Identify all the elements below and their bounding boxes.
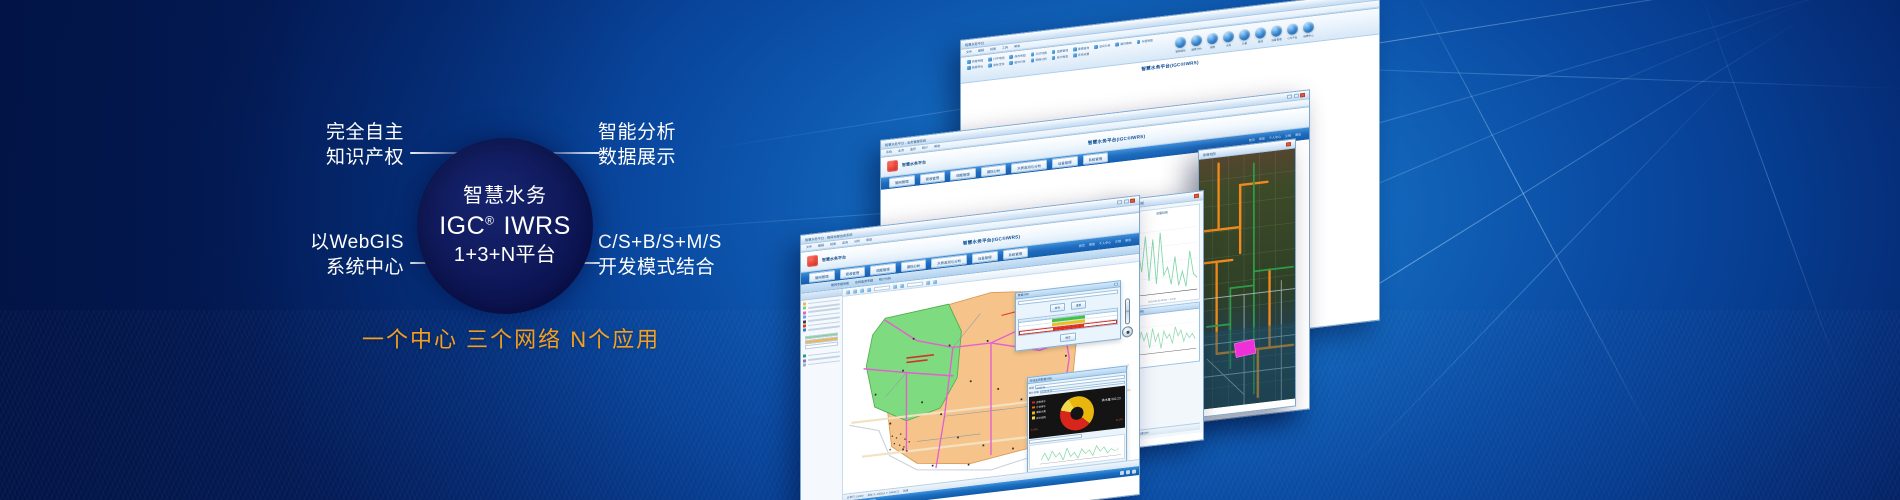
menu-item-help[interactable]: 帮助 [866, 237, 872, 242]
zoom-out-tool-icon[interactable] [860, 288, 864, 292]
layer-toc-panel[interactable] [801, 289, 843, 500]
map-canvas[interactable]: 爆管分析 查询 重置 [843, 262, 1139, 494]
donut-ring [1060, 394, 1094, 432]
window-middle-controls[interactable] [1287, 93, 1305, 99]
ribbon-command[interactable]: 打印地图 [1031, 51, 1047, 57]
system-tray[interactable] [1120, 469, 1136, 475]
window-front-brand-name: 智慧水务平台 [822, 254, 846, 263]
menu-item-tools[interactable]: 工具 [1002, 45, 1008, 50]
scale-select-dropdown[interactable] [907, 281, 923, 287]
application-screenshot-stack: 智慧水务平台 文件 编辑 视图 工具 帮助 新建地图 [790, 40, 1900, 480]
satellite-map-graphic [1199, 149, 1295, 410]
ribbon-module-label: 爆管分析 [1191, 46, 1201, 51]
nav-link-exit[interactable]: 退出 [1295, 132, 1301, 137]
pan-wheel-icon[interactable] [1122, 326, 1133, 338]
nav-link-logout[interactable]: 注销 [1285, 134, 1291, 139]
burst-analysis-dialog-label: 爆管分析 [1018, 292, 1029, 297]
nav-link-exit[interactable]: 退出 [1125, 238, 1131, 243]
close-icon[interactable] [1286, 142, 1291, 147]
menu-item-monitor[interactable]: 监控 [910, 147, 916, 152]
layer-toc-list[interactable] [801, 296, 842, 500]
donut-legend-item: 其它损耗 [1032, 414, 1046, 420]
zoom-slider[interactable] [1125, 299, 1130, 326]
window-charts-controls[interactable] [1194, 194, 1199, 199]
menu-item-analyse[interactable]: 分析 [854, 239, 860, 244]
nav-link-profile[interactable]: 个人中心 [1099, 240, 1111, 245]
ribbon-command[interactable]: 统计报表 [1052, 54, 1068, 60]
window-middle-app-title: 智慧水务平台(IGC®IWRS) [1088, 133, 1145, 146]
ribbon-module-label: 报表中心 [1303, 33, 1313, 38]
ribbon-command[interactable]: 新建地图 [967, 58, 983, 64]
ribbon-command[interactable]: 空间分析 [1094, 43, 1110, 49]
window-satellite-title: 影像地图 [1203, 150, 1216, 157]
donut-total-caption: 供水量 502.23 [1102, 396, 1121, 402]
window-front-gis[interactable]: 智慧水务平台 - 管网地理信息系统 文件 编辑 视图 查询 分析 帮助 [800, 195, 1140, 500]
ribbon-module-button[interactable]: 报表中心 [1303, 21, 1314, 38]
ribbon-module-label: 管网巡检 [1175, 48, 1185, 53]
ribbon-module-button[interactable]: 计量 [1239, 29, 1250, 46]
donut-legend-label: 其它损耗 [1036, 414, 1046, 419]
menu-item-system[interactable]: 系统 [886, 150, 892, 155]
confirm-button[interactable]: 确定 [1060, 333, 1075, 342]
network-icon[interactable] [1120, 470, 1124, 474]
menu-item-file[interactable]: 文件 [806, 245, 812, 250]
feature-bottom-left-line2: 系统中心 [278, 255, 404, 280]
clock-icon[interactable] [1132, 469, 1136, 473]
ribbon-command[interactable]: 要素查询 [1073, 46, 1089, 52]
ribbon-command[interactable]: 打开地图 [988, 56, 1004, 62]
ribbon-module-label: 水质 [1226, 43, 1231, 48]
identify-tool-icon[interactable] [867, 287, 871, 291]
core-platform-label: 1+3+N平台 [454, 244, 556, 267]
ribbon-module-label: 调度 [1210, 45, 1215, 50]
ribbon-command[interactable]: 图层管理 [1052, 48, 1068, 54]
burst-analysis-dialog-body: 查询 重置 [1016, 287, 1121, 351]
feature-top-left-line2: 知识产权 [278, 145, 404, 170]
ribbon-command[interactable]: 属性编辑 [1115, 41, 1131, 47]
select-tool-icon[interactable] [900, 283, 904, 287]
ribbon-module-button[interactable]: 设备管理 [1271, 25, 1282, 42]
minimize-icon[interactable] [1287, 94, 1292, 99]
menu-item-edit[interactable]: 编辑 [818, 243, 824, 248]
window-front-app-title: 智慧水务平台(IGC®IWRS) [963, 234, 1020, 247]
ribbon-command[interactable]: 数据导出 [967, 64, 983, 70]
feature-bottom-left-line1: 以WebGIS [310, 232, 404, 253]
menu-item-query[interactable]: 查询 [842, 240, 848, 245]
window-middle-brand-name: 智慧水务平台 [902, 159, 926, 168]
burst-analysis-dialog[interactable]: 爆管分析 查询 重置 [1015, 280, 1122, 352]
subnav-item-thematic-map[interactable]: 管网专题地图 [831, 281, 849, 287]
menu-item-edit[interactable]: 编辑 [978, 48, 984, 53]
menu-item-stats[interactable]: 统计 [922, 145, 928, 150]
donut-percent-left: 37.8% [1031, 428, 1038, 432]
registered-trademark-icon: ® [485, 214, 494, 228]
close-icon[interactable] [1130, 198, 1135, 203]
minimize-icon[interactable] [1117, 200, 1122, 205]
feature-top-left-line1: 完全自主 [326, 122, 404, 143]
close-icon[interactable] [1300, 93, 1305, 98]
menu-item-file[interactable]: 文件 [966, 50, 972, 55]
menu-item-business[interactable]: 业务 [898, 148, 904, 153]
core-brand-suffix: IWRS [504, 212, 571, 240]
menu-item-view[interactable]: 视图 [990, 47, 996, 52]
ribbon-module-button[interactable]: 营收 [1255, 27, 1266, 44]
feature-top-right-line1: 智能分析 [598, 122, 676, 143]
ribbon-command[interactable]: 系统设置 [1073, 52, 1089, 58]
feature-bottom-right: C/S+B/S+M/S 开发模式结合 [598, 230, 722, 280]
core-chinese-title: 智慧水务 [463, 185, 547, 207]
ribbon-module-button[interactable]: 爆管分析 [1191, 34, 1202, 51]
ribbon-module-button[interactable]: GIS平台 [1287, 23, 1298, 40]
map-navigation-control[interactable] [1122, 298, 1133, 338]
volume-icon[interactable] [1126, 470, 1130, 474]
ribbon-command[interactable]: 保存地图 [1009, 53, 1025, 59]
window-satellite-map[interactable]: 影像地图 [1198, 138, 1296, 418]
feature-bottom-left: 以WebGIS 系统中心 [278, 230, 404, 280]
banner-tagline: 一个中心 三个网络 N个应用 [362, 322, 660, 354]
nav-link-help[interactable]: 帮助 [1089, 242, 1095, 247]
status-ready: 就绪 [903, 488, 908, 493]
company-logo-icon [887, 160, 898, 172]
satellite-map-canvas[interactable] [1199, 149, 1295, 410]
menu-item-help[interactable]: 帮助 [934, 144, 940, 149]
platform-core-circle: 智慧水务 IGC®IWRS 1+3+N平台 [417, 138, 593, 314]
ribbon-module-button[interactable]: 管网巡检 [1175, 36, 1186, 53]
nav-link-home[interactable]: 首页 [1079, 243, 1085, 248]
ribbon-module-button[interactable]: 调度 [1207, 33, 1218, 50]
nav-link-profile[interactable]: 个人中心 [1269, 135, 1281, 140]
ribbon-module-label: 营收 [1258, 39, 1263, 44]
query-button[interactable]: 查询 [1050, 303, 1065, 312]
print-tool-icon[interactable] [926, 280, 930, 284]
status-scale: 比例尺 1:5000 [847, 494, 863, 500]
maximize-icon[interactable] [1294, 94, 1299, 99]
ribbon-module-label: GIS平台 [1288, 35, 1298, 40]
gis-workspace: 爆管分析 查询 重置 [801, 254, 1139, 500]
core-brand-prefix: IGC [439, 212, 485, 240]
donut-percent-right: 41.2% [1116, 418, 1123, 422]
gis-map-area: 爆管分析 查询 重置 [843, 254, 1139, 500]
zoom-in-tool-icon[interactable] [853, 289, 857, 293]
ribbon-module-button[interactable]: 水质 [1223, 31, 1234, 48]
layer-legend-swatches [805, 332, 838, 350]
nav-link-logout[interactable]: 注销 [1115, 239, 1121, 244]
monitoring-chart-panel[interactable]: 在线监测数据分析 区域 全部区域 统计日期 2019-06-28 [1027, 366, 1128, 473]
feature-top-right: 智能分析 数据展示 [598, 120, 676, 170]
window-front-controls[interactable] [1117, 198, 1135, 204]
nav-link-help[interactable]: 帮助 [1259, 137, 1265, 142]
feature-bottom-right-line2: 开发模式结合 [598, 255, 722, 280]
ribbon-command[interactable]: 专题制图 [1137, 38, 1153, 44]
ribbon-command[interactable]: 网络分析 [1031, 57, 1047, 63]
feature-bottom-right-line1: C/S+B/S+M/S [598, 232, 722, 253]
menu-item-help[interactable]: 帮助 [1014, 44, 1020, 49]
subnav-item-statistics[interactable]: 统计分析 [879, 276, 891, 281]
region-filter-label: 区域 [1029, 385, 1034, 390]
close-icon[interactable] [1194, 194, 1199, 199]
company-logo-icon [807, 255, 818, 267]
window-satellite-controls[interactable] [1286, 142, 1291, 147]
reset-button[interactable]: 重置 [1071, 300, 1086, 309]
refresh-tool-icon[interactable] [933, 279, 937, 283]
subnav-item-online-monitor[interactable]: 在线监测专题 [855, 278, 873, 284]
menu-item-view[interactable]: 视图 [830, 242, 836, 247]
ribbon-command[interactable]: 缓冲分析 [1009, 59, 1025, 65]
layer-select-dropdown[interactable] [874, 285, 890, 291]
date-filter-label: 统计日期 [1029, 390, 1039, 395]
nav-link-home[interactable]: 首页 [1249, 138, 1255, 143]
pan-tool-icon[interactable] [846, 290, 850, 294]
feature-top-right-line2: 数据展示 [598, 145, 676, 170]
measure-tool-icon[interactable] [893, 284, 897, 288]
ribbon-module-label: 设备管理 [1271, 37, 1281, 42]
ribbon-module-label: 计量 [1242, 41, 1247, 46]
promo-banner: 完全自主 知识产权 以WebGIS 系统中心 智能分析 数据展示 C/S+B/S… [0, 0, 1900, 500]
core-brand-name: IGC®IWRS [439, 212, 571, 241]
feature-top-left: 完全自主 知识产权 [278, 120, 404, 170]
window-back-title: 智慧水务平台 [965, 40, 984, 47]
ribbon-command[interactable]: 坐标定位 [988, 62, 1004, 68]
donut-legend: 正常供水 计划停水 漏损水量 其它损耗 [1032, 399, 1046, 420]
maximize-icon[interactable] [1124, 199, 1129, 204]
dialog-close-icon[interactable] [1114, 282, 1118, 286]
